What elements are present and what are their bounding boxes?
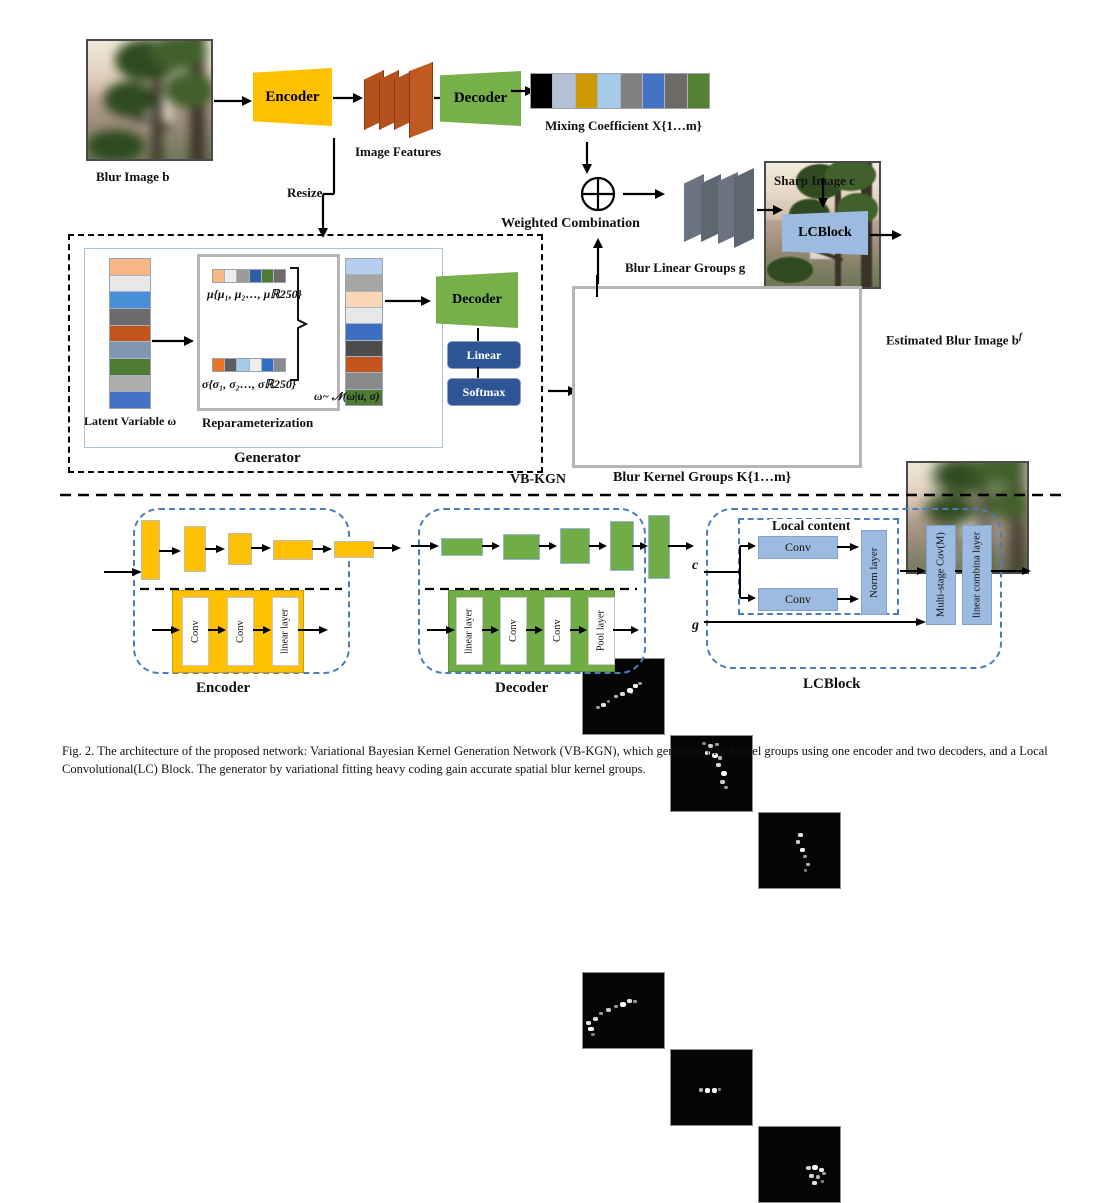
detail-encoder-output-arrow	[373, 542, 403, 554]
detail-encoder-input-arrow	[104, 565, 144, 579]
detail-decoder-title: Decoder	[495, 680, 548, 697]
lcblock-top[interactable]: LCBlock	[782, 211, 868, 255]
blur-kernel-groups-container	[572, 286, 862, 468]
encoder-inner-conv-2-label: Conv	[228, 598, 253, 665]
reparameterization-brace	[288, 266, 310, 382]
detail-lcblock-title: LCBlock	[803, 676, 861, 693]
arrow-latent-to-reparam	[152, 334, 196, 348]
estimated-blur-image-label: Estimated Blur Image bf	[886, 332, 1022, 348]
blur-image-photo	[86, 39, 213, 161]
reparameterization-label: Reparameterization	[202, 416, 313, 430]
image-features-label: Image Features	[355, 145, 441, 159]
decoder-inner-linear-layer-label: linear layer	[457, 598, 482, 664]
lcblock-conv-top-arrow	[837, 541, 861, 553]
encoder-block-label: Encoder	[253, 68, 332, 126]
encoder-inner-conv-1-label: Conv	[183, 598, 208, 665]
section-divider	[60, 492, 1070, 498]
encoder-stage-1	[141, 520, 160, 580]
decoder-block-top[interactable]: Decoder	[440, 71, 521, 126]
kernel-cell-5	[670, 1049, 753, 1126]
lcblock-linear-combina-layer: linear combina layer	[962, 525, 992, 625]
encoder-inner-arrow-1	[208, 624, 228, 636]
decoder-inner-input-arrow	[427, 624, 457, 636]
encoder-stage-5	[334, 541, 374, 558]
lcblock-multistage-cov: Multi-stage Cov(M)	[926, 525, 956, 625]
encoder-inner-linear-layer-label: linear layer	[273, 598, 298, 665]
lcblock-norm-layer-label: Norm layer	[862, 531, 886, 614]
decoder-inner-pool-layer: Pool layer	[588, 597, 615, 665]
arrow-sharp-to-lcblock	[816, 178, 830, 208]
linear-block[interactable]: Linear	[447, 341, 521, 369]
lcblock-input-g-label: g	[692, 618, 699, 633]
lcblock-top-label: LCBlock	[782, 211, 868, 255]
encoder-inner-output-arrow	[298, 624, 330, 636]
lcblock-conv-top-label: Conv	[785, 540, 811, 555]
encoder-stage-arrow-4	[312, 543, 334, 555]
linear-block-label: Linear	[467, 348, 502, 363]
blur-kernel-groups-label: Blur Kernel Groups K{1…m}	[613, 470, 791, 485]
detail-encoder-title: Encoder	[196, 680, 250, 697]
generator-label: Generator	[234, 450, 301, 467]
omega-output-bar	[345, 258, 383, 406]
weighted-combination-operator	[580, 176, 616, 212]
lcblock-conv-bottom-label: Conv	[785, 592, 811, 607]
blur-linear-groups-label: Blur Linear Groups g	[625, 261, 745, 275]
decoder-stage-4	[610, 521, 634, 571]
softmax-block[interactable]: Softmax	[447, 378, 521, 406]
arrow-encoder-to-features	[333, 91, 365, 105]
sharp-image-label: Sharp Image c	[774, 174, 855, 188]
weighted-combination-label: Weighted Combination	[501, 216, 640, 231]
encoder-stage-4	[273, 540, 313, 560]
estimated-blur-image-superscript: f	[1019, 331, 1022, 341]
lcblock-g-line	[704, 616, 928, 628]
lcblock-input-c-label: c	[692, 558, 698, 573]
lcblock-conv-top: Conv	[758, 536, 838, 559]
generator-decoder-label: Decoder	[436, 272, 518, 328]
encoder-stage-3	[228, 533, 252, 565]
generator-decoder-block[interactable]: Decoder	[436, 272, 518, 328]
decoder-stage-1	[441, 538, 483, 556]
decoder-inner-linear-layer: linear layer	[456, 597, 483, 665]
decoder-inner-output-arrow	[613, 624, 641, 636]
figure-caption: Fig. 2. The architecture of the proposed…	[62, 742, 1062, 778]
latent-variable-label: Latent Variable ω	[84, 415, 176, 428]
arrow-combination-to-linear-groups	[623, 187, 667, 201]
encoder-inner-input-arrow	[152, 624, 182, 636]
kernel-cell-3	[758, 812, 841, 889]
lcblock-linear-combina-layer-label: linear combina layer	[963, 526, 991, 624]
lcblock-conv-bottom-arrow	[837, 593, 861, 605]
image-features-stack	[364, 62, 432, 136]
encoder-stage-arrow-1	[159, 545, 183, 557]
mixing-coefficient-bar	[530, 73, 710, 109]
omega-distribution-label: ω~ 𝒩(ω|u, σ)	[314, 391, 380, 404]
resize-label: Resize	[287, 186, 322, 200]
detail-decoder-input-arrow	[411, 540, 441, 552]
decoder-block-top-label: Decoder	[440, 71, 521, 126]
sigma-bar	[212, 358, 286, 372]
decoder-stage-2	[503, 534, 540, 560]
lcblock-multistage-cov-label: Multi-stage Cov(M)	[927, 526, 955, 624]
mu-bar	[212, 269, 286, 283]
arrow-blur-to-encoder	[214, 94, 254, 108]
softmax-block-label: Softmax	[463, 385, 506, 400]
lcblock-c-split-lines	[704, 538, 758, 604]
arrow-omega-to-decoder	[385, 294, 433, 308]
detail-decoder-output-arrow	[668, 540, 696, 552]
decoder-inner-conv-1-label: Conv	[501, 598, 526, 664]
encoder-stage-arrow-2	[205, 543, 227, 555]
decoder-stage-arrow-2	[539, 540, 559, 552]
lcblock-norm-layer: Norm layer	[861, 530, 887, 615]
blur-linear-groups-stack	[684, 168, 756, 248]
decoder-inner-pool-layer-label: Pool layer	[589, 598, 614, 664]
vbkgn-label: VB-KGN	[510, 472, 566, 487]
decoder-inner-arrow-1	[482, 624, 500, 636]
resize-arrow	[320, 138, 344, 240]
lcblock-conv-bottom: Conv	[758, 588, 838, 611]
lcblock-norm-to-multistage-arrow	[900, 565, 928, 577]
blur-image-label: Blur Image b	[96, 170, 169, 184]
decoder-inner-conv-2-label: Conv	[545, 598, 570, 664]
decoder-stage-3	[560, 528, 590, 564]
decoder-stage-5	[648, 515, 670, 579]
lcblock-output-arrow	[991, 565, 1033, 577]
decoder-stage-arrow-3	[589, 540, 609, 552]
decoder-inner-conv-1: Conv	[500, 597, 527, 665]
kernel-cell-6	[758, 1126, 841, 1203]
kernel-cell-4	[582, 972, 665, 1049]
encoder-stage-2	[184, 526, 206, 572]
encoder-stage-arrow-3	[251, 542, 273, 554]
mixing-coefficient-label: Mixing Coefficient X{1…m}	[545, 119, 702, 133]
decoder-inner-arrow-3	[570, 624, 588, 636]
arrow-lcblock-to-estimated	[870, 228, 904, 242]
encoder-block[interactable]: Encoder	[253, 68, 332, 126]
encoder-inner-conv-1: Conv	[182, 597, 209, 666]
decoder-inner-conv-2: Conv	[544, 597, 571, 665]
decoder-inner-arrow-2	[526, 624, 544, 636]
sigma-label: σ{σ₁, σ₂…, σℝ250}	[202, 378, 296, 391]
latent-variable-bar	[109, 258, 151, 409]
weighted-combination-arrow-in	[580, 142, 594, 174]
local-content-label: Local content	[769, 519, 853, 534]
encoder-inner-arrow-2	[253, 624, 273, 636]
encoder-inner-linear-layer: linear layer	[272, 597, 299, 666]
encoder-inner-conv-2: Conv	[227, 597, 254, 666]
arrow-linear-groups-to-lcblock	[757, 203, 785, 217]
decoder-stage-arrow-1	[482, 540, 502, 552]
kernel-to-combination-connector	[594, 275, 600, 297]
